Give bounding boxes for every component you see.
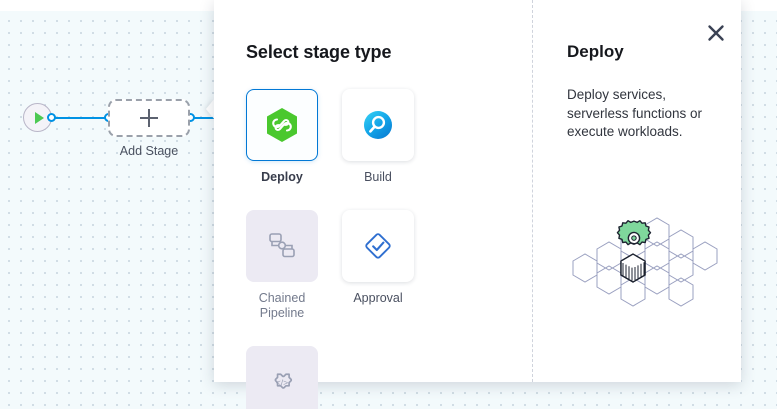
- custom-stage-code-gear-icon: </>: [266, 366, 298, 398]
- detail-title: Deploy: [567, 42, 713, 62]
- port-start-out[interactable]: [47, 113, 56, 122]
- stage-label-deploy: Deploy: [246, 170, 318, 186]
- stage-card-chained-pipeline[interactable]: [246, 210, 318, 282]
- play-triangle-icon: [35, 112, 44, 124]
- harness-cd-hexagon-icon: [265, 107, 299, 143]
- stage-option-chained-pipeline[interactable]: Chained Pipeline: [246, 210, 318, 322]
- select-stage-type-panel: Select stage type Deploy: [214, 0, 741, 382]
- stage-label-build: Build: [342, 170, 414, 186]
- add-stage-label: Add Stage: [108, 144, 190, 158]
- close-icon[interactable]: [705, 22, 727, 44]
- chained-pipeline-icon: [266, 230, 298, 262]
- hexagon-grid-gear-illustration: [555, 205, 740, 325]
- stage-card-deploy[interactable]: [246, 89, 318, 161]
- stage-label-chained-pipeline: Chained Pipeline: [246, 291, 318, 322]
- stage-option-approval[interactable]: Approval: [342, 210, 414, 322]
- stage-type-chooser: Select stage type Deploy: [214, 0, 533, 382]
- stage-detail-pane: Deploy Deploy services, serverless funct…: [533, 0, 741, 382]
- stage-type-grid: Deploy: [246, 89, 506, 409]
- svg-text:</>: </>: [276, 377, 288, 387]
- harness-ci-circle-icon: [360, 107, 396, 143]
- screen-root: Add Stage Select stage type Deploy: [0, 0, 777, 409]
- stage-card-build[interactable]: [342, 89, 414, 161]
- stage-option-custom-stage[interactable]: </> Custom Stage: [246, 346, 318, 409]
- detail-description: Deploy services, serverless functions or…: [567, 86, 713, 142]
- stage-card-custom-stage[interactable]: </>: [246, 346, 318, 409]
- stage-card-approval[interactable]: [342, 210, 414, 282]
- panel-title: Select stage type: [246, 42, 532, 63]
- plus-icon: [139, 108, 159, 128]
- approval-diamond-check-icon: [362, 230, 394, 262]
- stage-option-build[interactable]: Build: [342, 89, 414, 186]
- add-stage-node[interactable]: [108, 99, 190, 137]
- stage-label-approval: Approval: [342, 291, 414, 307]
- stage-option-deploy[interactable]: Deploy: [246, 89, 318, 186]
